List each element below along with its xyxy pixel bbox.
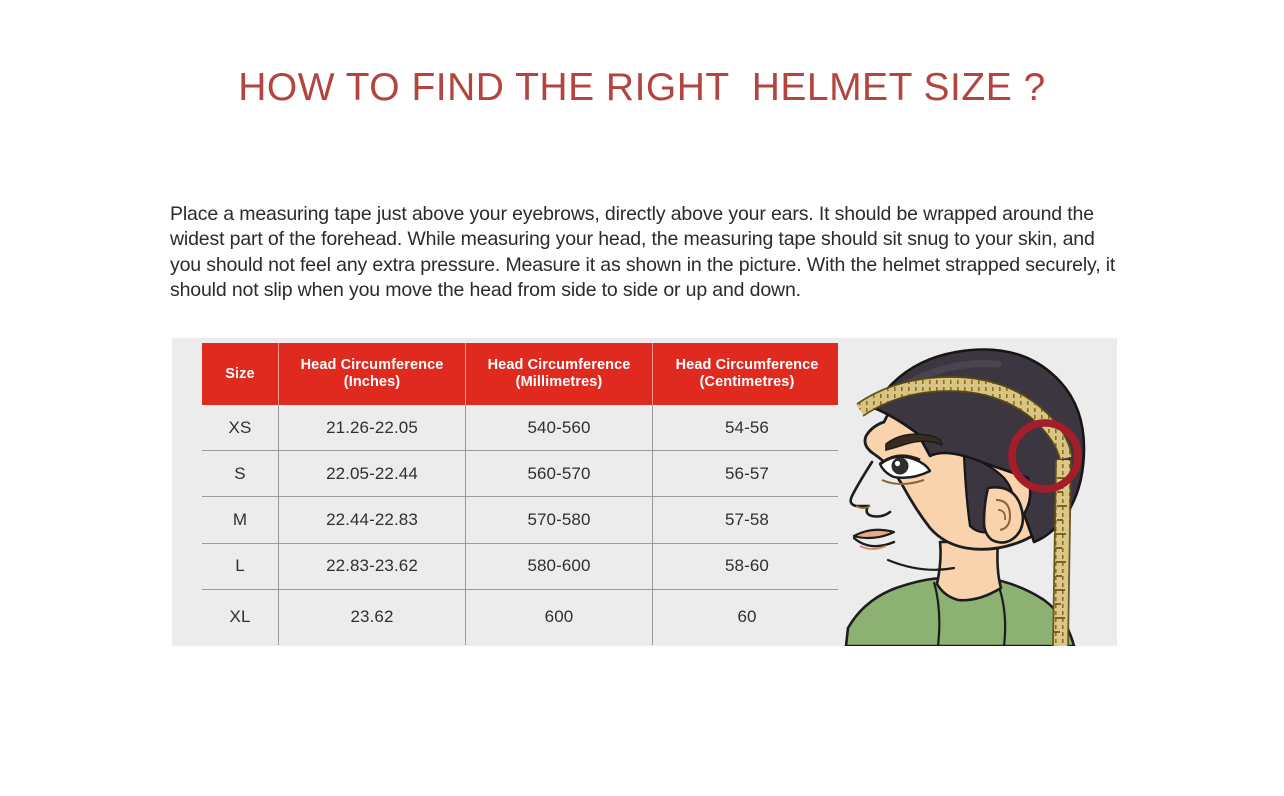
cell-inches: 22.05-22.44 — [279, 451, 466, 497]
column-header-size: Size — [202, 343, 279, 405]
cell-inches: 22.83-23.62 — [279, 543, 466, 589]
column-header-size-line1: Size — [225, 366, 254, 382]
table-row: XL 23.62 600 60 — [202, 589, 841, 645]
cell-cm: 54-56 — [653, 405, 842, 451]
cell-cm: 57-58 — [653, 497, 842, 543]
cell-size: M — [202, 497, 279, 543]
column-header-centimetres-line2: (Centimetres) — [700, 374, 795, 390]
column-header-millimetres-line1: Head Circumference — [488, 357, 631, 373]
page-title: HOW TO FIND THE RIGHT HELMET SIZE ? — [0, 66, 1284, 110]
table-body: XS 21.26-22.05 540-560 54-56 S 22.05-22.… — [202, 405, 841, 645]
table-header: Size Head Circumference (Inches) Head Ci… — [202, 343, 841, 405]
column-header-millimetres-line2: (Millimetres) — [516, 374, 603, 390]
column-header-centimetres: Head Circumference (Centimetres) — [653, 343, 842, 405]
column-header-inches-line1: Head Circumference — [301, 357, 444, 373]
cell-inches: 22.44-22.83 — [279, 497, 466, 543]
cell-inches: 23.62 — [279, 589, 466, 645]
column-header-centimetres-line1: Head Circumference — [676, 357, 819, 373]
cell-cm: 58-60 — [653, 543, 842, 589]
cell-size: L — [202, 543, 279, 589]
cell-cm: 56-57 — [653, 451, 842, 497]
cell-mm: 600 — [466, 589, 653, 645]
table-header-row: Size Head Circumference (Inches) Head Ci… — [202, 343, 841, 405]
helmet-size-table: Size Head Circumference (Inches) Head Ci… — [202, 343, 841, 645]
column-header-millimetres: Head Circumference (Millimetres) — [466, 343, 653, 405]
cell-mm: 560-570 — [466, 451, 653, 497]
instructions-paragraph: Place a measuring tape just above your e… — [170, 202, 1122, 304]
cell-size: S — [202, 451, 279, 497]
table-row: L 22.83-23.62 580-600 58-60 — [202, 543, 841, 589]
column-header-inches: Head Circumference (Inches) — [279, 343, 466, 405]
column-header-inches-line2: (Inches) — [344, 374, 400, 390]
table-row: S 22.05-22.44 560-570 56-57 — [202, 451, 841, 497]
cell-inches: 21.26-22.05 — [279, 405, 466, 451]
cell-mm: 580-600 — [466, 543, 653, 589]
size-chart-panel: Size Head Circumference (Inches) Head Ci… — [172, 338, 1117, 646]
cell-mm: 570-580 — [466, 497, 653, 543]
cell-size: XL — [202, 589, 279, 645]
cell-mm: 540-560 — [466, 405, 653, 451]
cell-cm: 60 — [653, 589, 842, 645]
table-row: XS 21.26-22.05 540-560 54-56 — [202, 405, 841, 451]
table-row: M 22.44-22.83 570-580 57-58 — [202, 497, 841, 543]
head-measurement-illustration: Side profile of a person's head with a m… — [838, 338, 1117, 646]
head-profile-icon — [838, 338, 1117, 646]
cell-size: XS — [202, 405, 279, 451]
